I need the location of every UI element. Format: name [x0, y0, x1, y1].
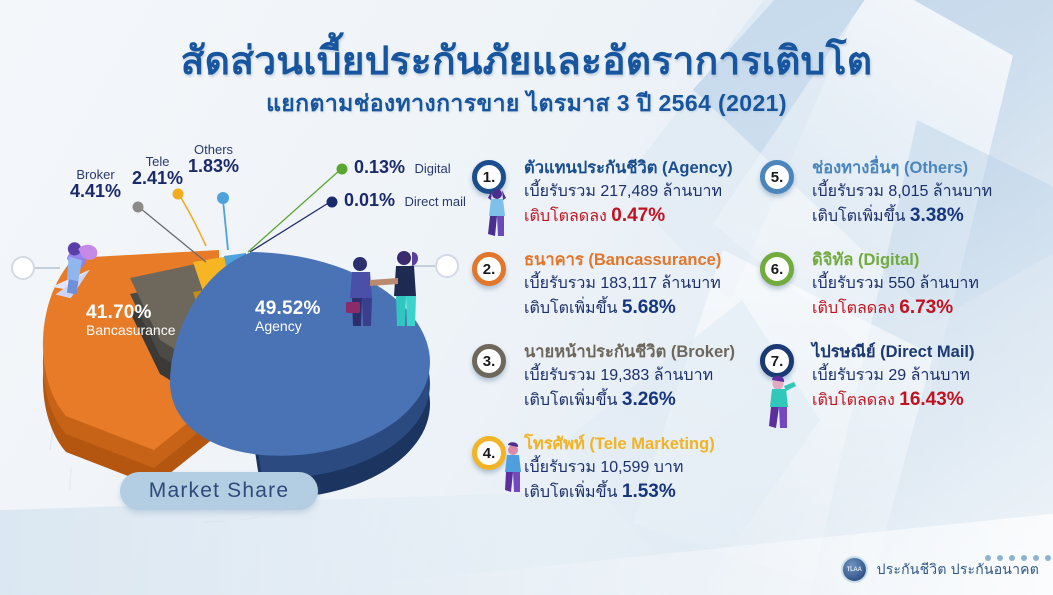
person-icon-direct-mail: [760, 372, 798, 428]
legend-name-4: โทรศัพท์ (Tele Marketing): [524, 434, 755, 455]
legend-growth-value-4: 1.53%: [622, 481, 676, 502]
callout-direct-mail: 0.01% Direct mail: [344, 191, 466, 211]
legend-name-6: ดิจิทัล (Digital): [812, 250, 1045, 271]
legend-item-agency[interactable]: 1. ตัวแทนประกันชีวิต (Agency) เบี้ยรับรว…: [470, 158, 755, 236]
legend-badge-5: 5.: [760, 160, 794, 194]
legend-growth-3: เติบโตเพิ่มขึ้น 3.26%: [524, 387, 755, 413]
legend-badge-6: 6.: [760, 252, 794, 286]
pie-slice-agency: [170, 252, 430, 498]
legend-premium-6: เบี้ยรับรวม 550 ล้านบาท: [812, 273, 1045, 295]
legend-item-bancassurance[interactable]: 2. ธนาคาร (Bancassurance) เบี้ยรับรวม 18…: [470, 250, 755, 328]
legend-item-digital[interactable]: 6. ดิจิทัล (Digital) เบี้ยรับรวม 550 ล้า…: [758, 250, 1045, 328]
callout-broker: Broker 4.41%: [70, 168, 121, 201]
legend-badge-2: 2.: [472, 252, 506, 286]
legend-item-others[interactable]: 5. ช่องทางอื่นๆ (Others) เบี้ยรับรวม 8,0…: [758, 158, 1045, 236]
page-subtitle: แยกตามช่องทางการขาย ไตรมาส 3 ปี 2564 (20…: [0, 86, 1053, 122]
legend-premium-4: เบี้ยรับรวม 10,599 บาท: [524, 457, 755, 479]
callout-others: Others 1.83%: [188, 143, 239, 176]
legend-item-tele[interactable]: 4. โทรศัพท์ (Tele Marketing) เบี้ยรับรวม…: [470, 434, 755, 512]
legend-column-right: 5. ช่องทางอื่นๆ (Others) เบี้ยรับรวม 8,0…: [758, 158, 1045, 434]
header: สัดส่วนเบี้ยประกันภัยและอัตราการเติบโต แ…: [0, 0, 1053, 138]
legend-premium-3: เบี้ยรับรวม 19,383 ล้านบาท: [524, 365, 755, 387]
legend-growth-value-7: 16.43%: [899, 389, 963, 410]
legend-growth-4: เติบโตเพิ่มขึ้น 1.53%: [524, 479, 755, 505]
legend-growth-label-1: เติบโตลดลง: [524, 208, 607, 225]
legend-premium-5: เบี้ยรับรวม 8,015 ล้านบาท: [812, 181, 1045, 203]
legend-growth-7: เติบโตลดลง 16.43%: [812, 387, 1045, 413]
legend-growth-label-2: เติบโตเพิ่มขึ้น: [524, 300, 617, 317]
legend-item-broker[interactable]: 3. นายหน้าประกันชีวิต (Broker) เบี้ยรับร…: [470, 342, 755, 420]
legend-name-5: ช่องทางอื่นๆ (Others): [812, 158, 1045, 179]
legend-premium-2: เบี้ยรับรวม 183,117 ล้านบาท: [524, 273, 755, 295]
legend-growth-value-5: 3.38%: [910, 205, 964, 226]
organization-logo-icon: TLAA: [841, 556, 868, 583]
page-title: สัดส่วนเบี้ยประกันภัยและอัตราการเติบโต: [0, 30, 1053, 92]
footer-branding: TLAA ประกันชีวิต ประกันอนาคต: [841, 556, 1039, 583]
legend-growth-value-6: 6.73%: [899, 297, 953, 318]
legend-premium-7: เบี้ยรับรวม 29 ล้านบาท: [812, 365, 1045, 387]
legend-name-3: นายหน้าประกันชีวิต (Broker): [524, 342, 755, 363]
legend-badge-3: 3.: [472, 344, 506, 378]
legend-name-2: ธนาคาร (Bancassurance): [524, 250, 755, 271]
legend: 1. ตัวแทนประกันชีวิต (Agency) เบี้ยรับรว…: [470, 158, 1045, 558]
legend-growth-label-3: เติบโตเพิ่มขึ้น: [524, 392, 617, 409]
legend-name-1: ตัวแทนประกันชีวิต (Agency): [524, 158, 755, 179]
legend-growth-1: เติบโตลดลง 0.47%: [524, 203, 755, 229]
legend-name-7: ไปรษณีย์ (Direct Mail): [812, 342, 1045, 363]
legend-growth-value-1: 0.47%: [611, 205, 665, 226]
slice-label-agency: 49.52% Agency: [255, 298, 321, 335]
market-share-badge: Market Share: [120, 472, 318, 510]
person-icon-agency: [480, 184, 514, 236]
slice-label-bancassurance: 41.70% Bancasurance: [86, 302, 176, 339]
side-marker-left: [12, 257, 60, 279]
legend-growth-label-6: เติบโตลดลง: [812, 300, 895, 317]
legend-growth-label-5: เติบโตเพิ่มขึ้น: [812, 208, 905, 225]
legend-growth-2: เติบโตเพิ่มขึ้น 5.68%: [524, 295, 755, 321]
legend-item-direct-mail[interactable]: 7. ไปรษณีย์ (Direct Mail) เบี้ยรับรวม 29…: [758, 342, 1045, 420]
legend-growth-value-2: 5.68%: [622, 297, 676, 318]
footer-tagline: ประกันชีวิต ประกันอนาคต: [877, 559, 1039, 581]
person-icon-tele: [496, 440, 530, 492]
legend-growth-6: เติบโตลดลง 6.73%: [812, 295, 1045, 321]
infographic-canvas: สัดส่วนเบี้ยประกันภัยและอัตราการเติบโต แ…: [0, 0, 1053, 595]
callout-tele: Tele 2.41%: [132, 155, 183, 188]
legend-growth-label-7: เติบโตลดลง: [812, 392, 895, 409]
legend-premium-1: เบี้ยรับรวม 217,489 ล้านบาท: [524, 181, 755, 203]
legend-growth-label-4: เติบโตเพิ่มขึ้น: [524, 484, 617, 501]
callout-digital: 0.13% Digital: [354, 158, 451, 178]
legend-column-left: 1. ตัวแทนประกันชีวิต (Agency) เบี้ยรับรว…: [470, 158, 755, 526]
legend-growth-value-3: 3.26%: [622, 389, 676, 410]
legend-growth-5: เติบโตเพิ่มขึ้น 3.38%: [812, 203, 1045, 229]
